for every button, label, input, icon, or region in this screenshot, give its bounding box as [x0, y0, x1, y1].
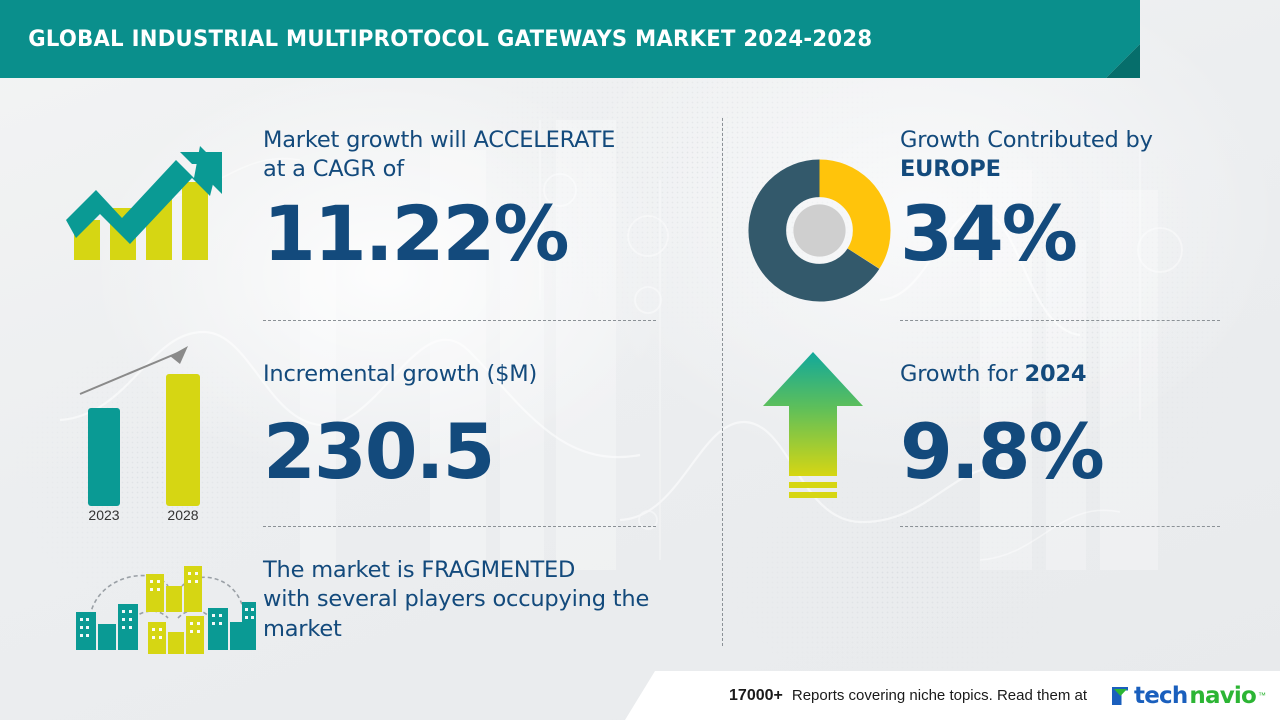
- svg-text:2028: 2028: [167, 507, 198, 521]
- technavio-play-mark-icon: [1110, 684, 1132, 708]
- fragmented-line-1: The market is FRAGMENTED: [263, 557, 575, 583]
- right-divider-1: [900, 320, 1220, 321]
- growth-2024-year: 2024: [1024, 361, 1086, 387]
- footer-content: 17000+ Reports covering niche topics. Re…: [729, 671, 1266, 720]
- page-title: GLOBAL INDUSTRIAL MULTIPROTOCOL GATEWAYS…: [0, 26, 872, 52]
- svg-text:2023: 2023: [88, 507, 119, 521]
- incremental-growth-value: 230.5: [263, 416, 493, 488]
- growth-2024-label: Growth for 2024: [900, 360, 1086, 389]
- donut-chart-icon: [747, 158, 892, 303]
- europe-share-value: 34%: [900, 198, 1076, 270]
- europe-lead-line-2: EUROPE: [900, 156, 1001, 182]
- up-arrow-gradient-icon: [759, 348, 867, 508]
- incremental-growth-label: Incremental growth ($M): [263, 360, 537, 389]
- right-column: Growth Contributed by EUROPE 34%: [723, 86, 1280, 672]
- growth-2024-value: 9.8%: [900, 416, 1103, 488]
- left-divider-2: [263, 526, 656, 527]
- report-count: 17000+: [729, 687, 783, 705]
- growth-2024-label-text: Growth for: [900, 361, 1024, 387]
- infographic-canvas: GLOBAL INDUSTRIAL MULTIPROTOCOL GATEWAYS…: [0, 0, 1280, 720]
- europe-lead-line-1: Growth Contributed by: [900, 127, 1153, 153]
- cagr-lead-text: Market growth will ACCELERATE at a CAGR …: [263, 126, 663, 185]
- left-column: Market growth will ACCELERATE at a CAGR …: [0, 86, 723, 672]
- logo-trademark: ™: [1258, 691, 1266, 700]
- growth-arrow-bar-chart-icon: [60, 134, 260, 264]
- footer-tagline: Reports covering niche topics. Read them…: [792, 687, 1087, 704]
- fragmented-market-text: The market is FRAGMENTED with several pl…: [263, 556, 683, 644]
- cagr-lead-line-1: Market growth will ACCELERATE: [263, 127, 615, 153]
- right-divider-2: [900, 526, 1220, 527]
- fragmented-buildings-icon: [72, 552, 257, 662]
- two-bar-comparison-icon: 2023 2028: [70, 336, 260, 521]
- logo-text-navio: navio: [1189, 683, 1256, 709]
- cagr-value: 11.22%: [263, 198, 568, 270]
- logo-text-tech: tech: [1134, 683, 1187, 709]
- technavio-logo[interactable]: technavio™: [1110, 683, 1266, 709]
- cagr-lead-line-2: at a CAGR of: [263, 156, 404, 182]
- fragmented-line-3: market: [263, 616, 342, 642]
- europe-lead-text: Growth Contributed by EUROPE: [900, 126, 1153, 185]
- header-banner: GLOBAL INDUSTRIAL MULTIPROTOCOL GATEWAYS…: [0, 0, 1140, 78]
- left-divider-1: [263, 320, 656, 321]
- fragmented-line-2: with several players occupying the: [263, 586, 649, 612]
